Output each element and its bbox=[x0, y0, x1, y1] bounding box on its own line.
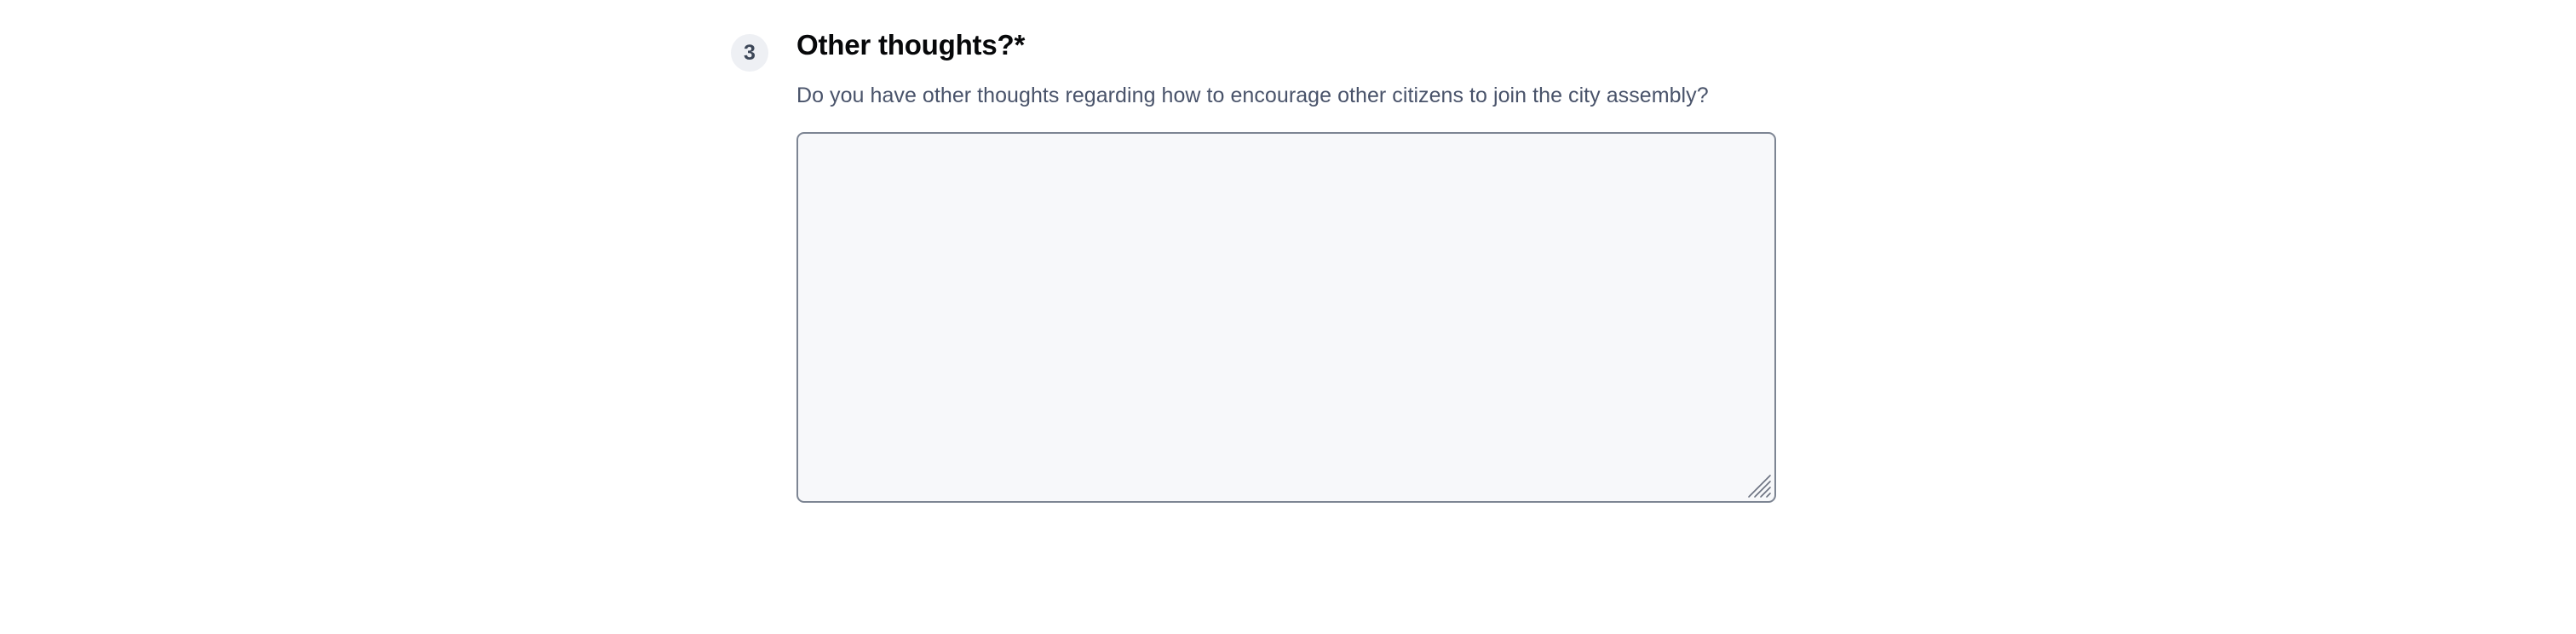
question-title-text: Other thoughts? bbox=[796, 29, 1014, 61]
question-number-badge: 3 bbox=[731, 34, 768, 72]
question-number: 3 bbox=[744, 43, 756, 64]
question-body: Other thoughts?* Do you have other thoug… bbox=[796, 29, 1778, 503]
question-block: 3 Other thoughts?* Do you have other tho… bbox=[731, 29, 1778, 503]
answer-textarea[interactable] bbox=[796, 132, 1776, 503]
survey-question-page: 3 Other thoughts?* Do you have other tho… bbox=[0, 0, 2576, 634]
answer-field-wrapper bbox=[796, 132, 1776, 503]
required-asterisk: * bbox=[1014, 29, 1025, 61]
question-description: Do you have other thoughts regarding how… bbox=[796, 81, 1778, 112]
question-title: Other thoughts?* bbox=[796, 29, 1778, 62]
